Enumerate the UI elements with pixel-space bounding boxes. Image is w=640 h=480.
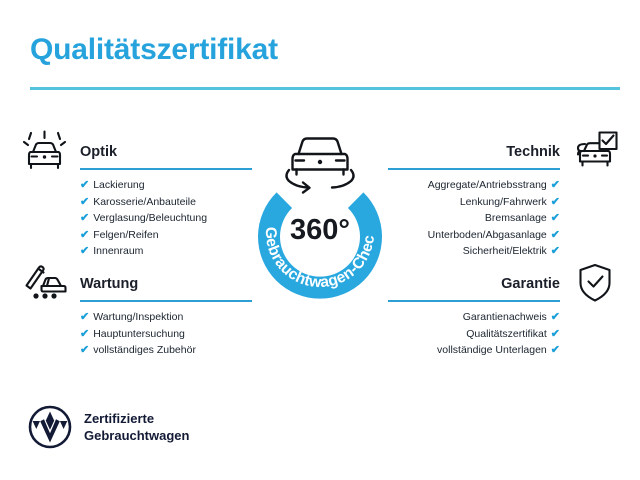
footer-line-1: Zertifizierte: [84, 410, 189, 427]
car-checkbox-icon: [572, 130, 618, 172]
section-heading-technik: Technik: [506, 144, 560, 160]
checklist-garantie: Garantienachweis✔ Qualitätszertifikat✔ v…: [437, 309, 560, 359]
badge-number: 360°: [246, 214, 394, 247]
section-technik: Technik Aggregate/Antriebsstrang✔ Lenkun…: [386, 128, 618, 248]
section-heading-wartung: Wartung: [80, 276, 138, 292]
list-item-label: Verglasung/Beleuchtung: [93, 212, 207, 224]
check-icon: ✔: [551, 326, 560, 343]
list-item-label: Felgen/Reifen: [93, 229, 158, 241]
list-item: ✔Karosserie/Anbauteile: [80, 194, 207, 211]
check-icon: ✔: [80, 194, 89, 211]
section-heading-garantie: Garantie: [501, 276, 560, 292]
section-heading-optik: Optik: [80, 144, 117, 160]
section-garantie: Garantie Garantienachweis✔ Qualitätszert…: [386, 260, 618, 380]
list-item-label: Innenraum: [93, 245, 143, 257]
check-icon: ✔: [551, 210, 560, 227]
list-item-label: Qualitätszertifikat: [466, 328, 547, 340]
list-item: Lenkung/Fahrwerk✔: [428, 194, 560, 211]
page-title: Qualitätszertifikat: [30, 33, 278, 66]
check-icon: ✔: [551, 342, 560, 359]
vw-logo: [28, 405, 72, 449]
car-rotation-icon: [287, 139, 354, 193]
list-item: vollständige Unterlagen✔: [437, 342, 560, 359]
list-item-label: vollständige Unterlagen: [437, 344, 547, 356]
title-divider: [30, 87, 620, 90]
checklist-wartung: ✔Wartung/Inspektion ✔Hauptuntersuchung ✔…: [80, 309, 196, 359]
check-icon: ✔: [551, 227, 560, 244]
badge-360-gebrauchtwagen-check: Gebrauchtwagen-Check 360°: [246, 124, 394, 302]
list-item: ✔Lackierung: [80, 177, 207, 194]
list-item: ✔Wartung/Inspektion: [80, 309, 196, 326]
list-item-label: vollständiges Zubehör: [93, 344, 196, 356]
list-item-label: Karosserie/Anbauteile: [93, 196, 196, 208]
list-item-label: Aggregate/Antriebsstrang: [428, 179, 547, 191]
car-emblem-dot: [318, 160, 322, 164]
check-icon: ✔: [80, 309, 89, 326]
footer-brand: Zertifizierte Gebrauchtwagen: [28, 405, 189, 449]
section-divider-wartung: [80, 300, 252, 302]
list-item-label: Wartung/Inspektion: [93, 311, 183, 323]
section-wartung: Wartung ✔Wartung/Inspektion ✔Hauptunters…: [22, 260, 254, 380]
section-optik: Optik ✔Lackierung ✔Karosserie/Anbauteile…: [22, 128, 254, 248]
pen-car-service-icon: [22, 262, 68, 304]
list-item-label: Hauptuntersuchung: [93, 328, 185, 340]
list-item: Sicherheit/Elektrik✔: [428, 243, 560, 260]
check-icon: ✔: [80, 210, 89, 227]
shield-check-icon: [572, 262, 618, 304]
check-icon: ✔: [80, 227, 89, 244]
list-item: ✔Innenraum: [80, 243, 207, 260]
check-icon: ✔: [80, 326, 89, 343]
footer-brand-text: Zertifizierte Gebrauchtwagen: [84, 410, 189, 444]
section-divider-garantie: [388, 300, 560, 302]
section-divider-optik: [80, 168, 252, 170]
check-icon: ✔: [80, 342, 89, 359]
list-item-label: Garantienachweis: [463, 311, 547, 323]
car-shine-icon: [22, 130, 68, 172]
list-item: Aggregate/Antriebsstrang✔: [428, 177, 560, 194]
list-item: ✔Felgen/Reifen: [80, 227, 207, 244]
footer-line-2: Gebrauchtwagen: [84, 427, 189, 444]
qualitaetszertifikat-page: Qualitätszertifikat: [0, 0, 640, 480]
section-divider-technik: [388, 168, 560, 170]
list-item: Garantienachweis✔: [437, 309, 560, 326]
list-item: ✔vollständiges Zubehör: [80, 342, 196, 359]
check-icon: ✔: [551, 309, 560, 326]
check-icon: ✔: [551, 194, 560, 211]
list-item-label: Sicherheit/Elektrik: [463, 245, 547, 257]
checklist-technik: Aggregate/Antriebsstrang✔ Lenkung/Fahrwe…: [428, 177, 560, 260]
check-icon: ✔: [551, 243, 560, 260]
list-item-label: Lenkung/Fahrwerk: [460, 196, 547, 208]
check-icon: ✔: [80, 243, 89, 260]
list-item: Qualitätszertifikat✔: [437, 326, 560, 343]
list-item-label: Bremsanlage: [485, 212, 547, 224]
check-icon: ✔: [551, 177, 560, 194]
list-item: Unterboden/Abgasanlage✔: [428, 227, 560, 244]
checklist-optik: ✔Lackierung ✔Karosserie/Anbauteile ✔Verg…: [80, 177, 207, 260]
list-item: ✔Verglasung/Beleuchtung: [80, 210, 207, 227]
list-item: ✔Hauptuntersuchung: [80, 326, 196, 343]
list-item-label: Unterboden/Abgasanlage: [428, 229, 547, 241]
check-icon: ✔: [80, 177, 89, 194]
list-item: Bremsanlage✔: [428, 210, 560, 227]
list-item-label: Lackierung: [93, 179, 144, 191]
